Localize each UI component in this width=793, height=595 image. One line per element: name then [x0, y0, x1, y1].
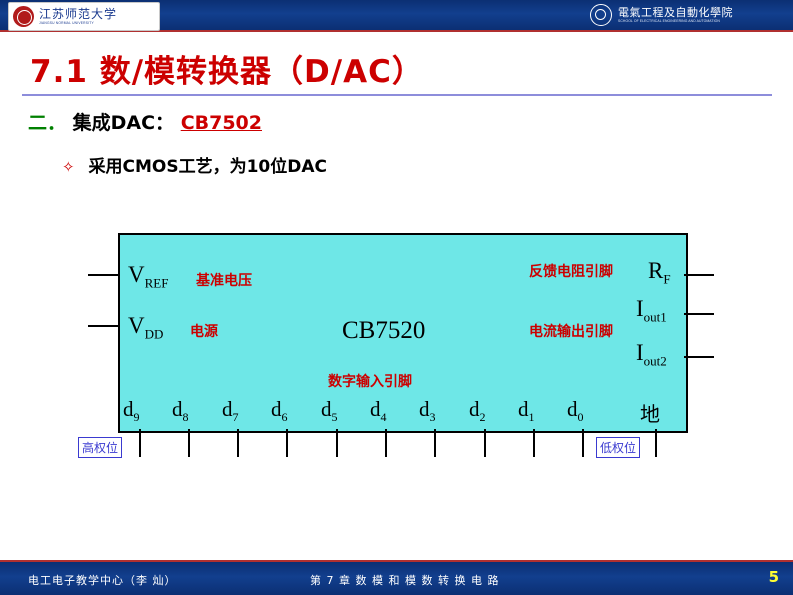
pin-label-rf: RF [648, 258, 671, 288]
university-name-en: JIANGSU NORMAL UNIVERSITY [39, 22, 117, 25]
pin-wire-ground [655, 429, 657, 457]
chip-name: CB7520 [342, 317, 425, 345]
bullet-level-1: 二． 集成DAC： CB7502 [28, 108, 262, 135]
school-seal-icon [590, 4, 612, 26]
pin-wire-d7 [237, 429, 239, 457]
pin-wire-d9 [139, 429, 141, 457]
bullet2-text: 采用CMOS工艺，为10位DAC [89, 157, 328, 177]
university-logo: 江苏师范大学 JIANGSU NORMAL UNIVERSITY [8, 2, 160, 31]
pin-wire-d5 [336, 429, 338, 457]
note-digital-inputs: 数字输入引脚 [328, 371, 412, 391]
university-seal-icon [13, 6, 34, 27]
page-title: 7.1 数/模转换器（D/AC） [30, 46, 424, 91]
footer-center-text: 第 7 章 数 模 和 模 数 转 换 电 路 [310, 572, 499, 588]
weight-high-label: 高权位 [78, 437, 122, 458]
pin-label-vref: VREF [128, 262, 168, 292]
pin-note-vdd: 电源 [190, 321, 218, 341]
pin-note-rf: 反馈电阻引脚 [529, 261, 613, 281]
bullet-level-2: ✧ 采用CMOS工艺，为10位DAC [62, 152, 327, 177]
pin-wire-vref [88, 274, 118, 276]
bullet-text: 集成DAC： [73, 112, 174, 134]
diamond-bullet-icon: ✧ [62, 158, 75, 176]
pin-wire-d8 [188, 429, 190, 457]
pin-wire-d6 [286, 429, 288, 457]
chip-body [118, 233, 688, 433]
title-divider [22, 94, 772, 96]
pin-wire-d3 [434, 429, 436, 457]
pin-note-iout: 电流输出引脚 [529, 321, 613, 341]
weight-low-label: 低权位 [596, 437, 640, 458]
data-pin-d1: d1 [518, 397, 535, 425]
school-name-en: SCHOOL OF ELECTRICAL ENGINEERING AND AUT… [618, 20, 733, 23]
data-pin-d7: d7 [222, 397, 239, 425]
data-pin-d8: d8 [172, 397, 189, 425]
pin-wire-iout1 [684, 313, 714, 315]
data-pin-d0: d0 [567, 397, 584, 425]
pin-label-ground: 地 [640, 398, 660, 427]
school-name-cn: 電氣工程及自動化學院 [618, 7, 733, 18]
pin-wire-d2 [484, 429, 486, 457]
pin-label-vdd: VDD [128, 313, 163, 343]
pin-wire-d1 [533, 429, 535, 457]
pin-wire-rf [684, 274, 714, 276]
data-pin-d9: d9 [123, 397, 140, 425]
pin-wire-d4 [385, 429, 387, 457]
pin-note-vref: 基准电压 [196, 270, 252, 290]
pin-wire-vdd [88, 325, 118, 327]
pin-label-iout2: Iout2 [636, 340, 667, 370]
pin-wire-d0 [582, 429, 584, 457]
pin-wire-iout2 [684, 356, 714, 358]
pin-label-iout1: Iout1 [636, 296, 667, 326]
bullet-number: 二． [28, 112, 66, 134]
bullet-emphasis: CB7502 [181, 112, 262, 134]
data-pin-d2: d2 [469, 397, 486, 425]
footer-left-text: 电工电子教学中心（李 灿） [28, 572, 177, 588]
school-logo: 電氣工程及自動化學院 SCHOOL OF ELECTRICAL ENGINEER… [590, 2, 785, 28]
university-name-cn: 江苏师范大学 [39, 8, 117, 20]
page-number: 5 [769, 568, 779, 586]
data-pin-d6: d6 [271, 397, 288, 425]
data-pin-d4: d4 [370, 397, 387, 425]
data-pin-d3: d3 [419, 397, 436, 425]
data-pin-d5: d5 [321, 397, 338, 425]
